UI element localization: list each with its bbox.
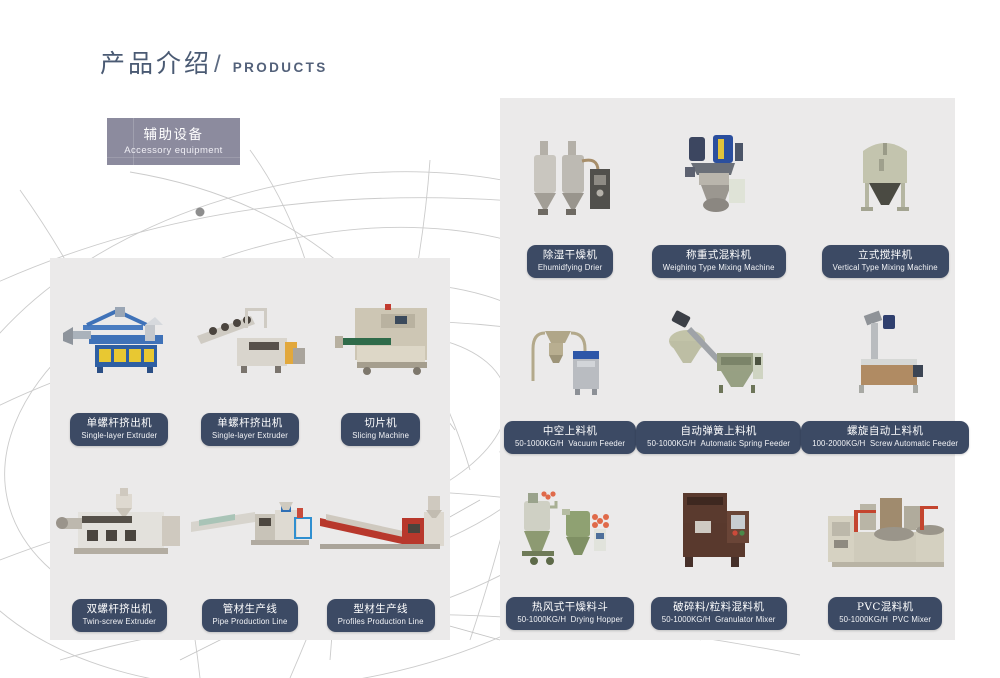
product-label[interactable]: 热风式干燥料斗50-1000KG/H Drying Hopper	[506, 597, 634, 630]
product-name-cn: 单螺杆挤出机	[212, 417, 288, 430]
product-label[interactable]: 除湿干燥机Ehumidfying Drier	[527, 245, 614, 278]
pvc-mixer-photo-icon	[801, 458, 969, 597]
product-card-screw-feeder[interactable]: 螺旋自动上料机100-2000KG/H Screw Automatic Feed…	[801, 282, 969, 458]
product-label[interactable]: 中空上料机50-1000KG/H Vacuum Feeder	[504, 421, 636, 454]
page-title: 产品介绍 / PRODUCTS	[100, 44, 328, 80]
title-separator: /	[214, 51, 221, 79]
product-capacity: 50-1000KG/H	[517, 615, 570, 624]
screw-feeder-photo-icon	[801, 282, 969, 421]
product-name-cn: 称重式混料机	[663, 249, 775, 262]
product-name-en: 50-1000KG/H Drying Hopper	[517, 615, 623, 625]
product-name-en: 50-1000KG/H Vacuum Feeder	[515, 439, 625, 449]
product-name-en: Ehumidfying Drier	[538, 263, 603, 273]
product-card-vacuum-feeder[interactable]: 中空上料机50-1000KG/H Vacuum Feeder	[504, 282, 636, 458]
product-capacity: 50-1000KG/H	[662, 615, 715, 624]
product-label[interactable]: 单螺杆挤出机Single-layer Extruder	[201, 413, 299, 446]
product-card-single-layer-extruder[interactable]: 单螺杆挤出机Single-layer Extruder	[54, 264, 185, 450]
product-name-en: Single-layer Extruder	[81, 431, 157, 441]
product-name-en: Pipe Production Line	[213, 617, 288, 627]
product-card-single-layer-extruder-line[interactable]: 单螺杆挤出机Single-layer Extruder	[185, 264, 316, 450]
product-name-en: 50-1000KG/H PVC Mixer	[839, 615, 931, 625]
single-layer-extruder-line-photo-icon	[185, 264, 316, 413]
product-name-en: Weighing Type Mixing Machine	[663, 263, 775, 273]
category-chip-accessory-equipment[interactable]: 辅助设备 Accessory equipment	[107, 118, 240, 165]
product-label[interactable]: PVC混料机50-1000KG/H PVC Mixer	[828, 597, 942, 630]
chip-divider-horizontal	[107, 157, 240, 158]
pipe-production-line-photo-icon	[185, 450, 316, 599]
product-name-cn: 立式搅拌机	[833, 249, 938, 262]
product-capacity: 50-1000KG/H	[515, 439, 568, 448]
category-name-cn: 辅助设备	[144, 127, 204, 144]
product-label[interactable]: 切片机Slicing Machine	[341, 413, 420, 446]
product-label[interactable]: 管材生产线Pipe Production Line	[202, 599, 299, 632]
product-card-profiles-production-line[interactable]: 型材生产线Profiles Production Line	[315, 450, 446, 636]
product-label[interactable]: 型材生产线Profiles Production Line	[327, 599, 435, 632]
spring-feeder-photo-icon	[636, 282, 801, 421]
product-name-cn: 双螺杆挤出机	[83, 603, 156, 616]
product-name-en: Slicing Machine	[352, 431, 409, 441]
page-title-en: PRODUCTS	[233, 60, 328, 75]
twin-screw-extruder-photo-icon	[54, 450, 185, 599]
product-card-weighing-mixer[interactable]: 称重式混料机Weighing Type Mixing Machine	[636, 106, 801, 282]
product-card-pipe-production-line[interactable]: 管材生产线Pipe Production Line	[185, 450, 316, 636]
category-name-en: Accessory equipment	[124, 145, 222, 156]
product-card-pvc-mixer[interactable]: PVC混料机50-1000KG/H PVC Mixer	[801, 458, 969, 634]
slicing-machine-photo-icon	[315, 264, 446, 413]
product-name-cn: 自动弹簧上料机	[647, 425, 790, 438]
product-name-en: 50-1000KG/H Granulator Mixer	[662, 615, 776, 625]
product-grid-right: 除湿干燥机Ehumidfying Drier 称重式混料机Weighing Ty…	[500, 98, 955, 640]
product-name-cn: PVC混料机	[839, 601, 931, 614]
product-label[interactable]: 破碎料/粒料混料机50-1000KG/H Granulator Mixer	[651, 597, 787, 630]
product-card-dehumidifying-drier[interactable]: 除湿干燥机Ehumidfying Drier	[504, 106, 636, 282]
product-name-en: Profiles Production Line	[338, 617, 424, 627]
product-label[interactable]: 立式搅拌机Vertical Type Mixing Machine	[822, 245, 949, 278]
product-name-en: Single-layer Extruder	[212, 431, 288, 441]
weighing-mixer-photo-icon	[636, 106, 801, 245]
product-label[interactable]: 称重式混料机Weighing Type Mixing Machine	[652, 245, 786, 278]
product-card-twin-screw-extruder[interactable]: 双螺杆挤出机Twin-screw Extruder	[54, 450, 185, 636]
product-capacity: 50-1000KG/H	[647, 439, 700, 448]
product-card-granulator-mixer[interactable]: 破碎料/粒料混料机50-1000KG/H Granulator Mixer	[636, 458, 801, 634]
product-label[interactable]: 单螺杆挤出机Single-layer Extruder	[70, 413, 168, 446]
product-card-vertical-mixer[interactable]: 立式搅拌机Vertical Type Mixing Machine	[801, 106, 969, 282]
product-name-cn: 除湿干燥机	[538, 249, 603, 262]
product-name-en: 100-2000KG/H Screw Automatic Feeder	[812, 439, 958, 449]
product-name-cn: 管材生产线	[213, 603, 288, 616]
product-capacity: 100-2000KG/H	[812, 439, 870, 448]
single-layer-extruder-photo-icon	[54, 264, 185, 413]
vacuum-feeder-photo-icon	[504, 282, 636, 421]
product-card-spring-feeder[interactable]: 自动弹簧上料机50-1000KG/H Automatic Spring Feed…	[636, 282, 801, 458]
product-name-en: Vertical Type Mixing Machine	[833, 263, 938, 273]
product-capacity: 50-1000KG/H	[839, 615, 892, 624]
product-label[interactable]: 双螺杆挤出机Twin-screw Extruder	[72, 599, 167, 632]
product-name-cn: 破碎料/粒料混料机	[662, 601, 776, 614]
product-name-en: Twin-screw Extruder	[83, 617, 156, 627]
product-card-drying-hopper[interactable]: 热风式干燥料斗50-1000KG/H Drying Hopper	[504, 458, 636, 634]
product-name-cn: 中空上料机	[515, 425, 625, 438]
product-grid-left: 单螺杆挤出机Single-layer Extruder 单螺杆挤出机Single…	[50, 258, 450, 640]
product-card-slicing-machine[interactable]: 切片机Slicing Machine	[315, 264, 446, 450]
product-name-cn: 单螺杆挤出机	[81, 417, 157, 430]
granulator-mixer-photo-icon	[636, 458, 801, 597]
dehumidifying-drier-photo-icon	[504, 106, 636, 245]
product-name-cn: 热风式干燥料斗	[517, 601, 623, 614]
vertical-mixer-photo-icon	[801, 106, 969, 245]
profiles-production-line-photo-icon	[315, 450, 446, 599]
drying-hopper-photo-icon	[504, 458, 636, 597]
product-name-cn: 型材生产线	[338, 603, 424, 616]
page-title-cn: 产品介绍	[100, 44, 212, 80]
product-name-cn: 螺旋自动上料机	[812, 425, 958, 438]
product-name-cn: 切片机	[352, 417, 409, 430]
product-name-en: 50-1000KG/H Automatic Spring Feeder	[647, 439, 790, 449]
product-label[interactable]: 自动弹簧上料机50-1000KG/H Automatic Spring Feed…	[636, 421, 801, 454]
product-label[interactable]: 螺旋自动上料机100-2000KG/H Screw Automatic Feed…	[801, 421, 969, 454]
